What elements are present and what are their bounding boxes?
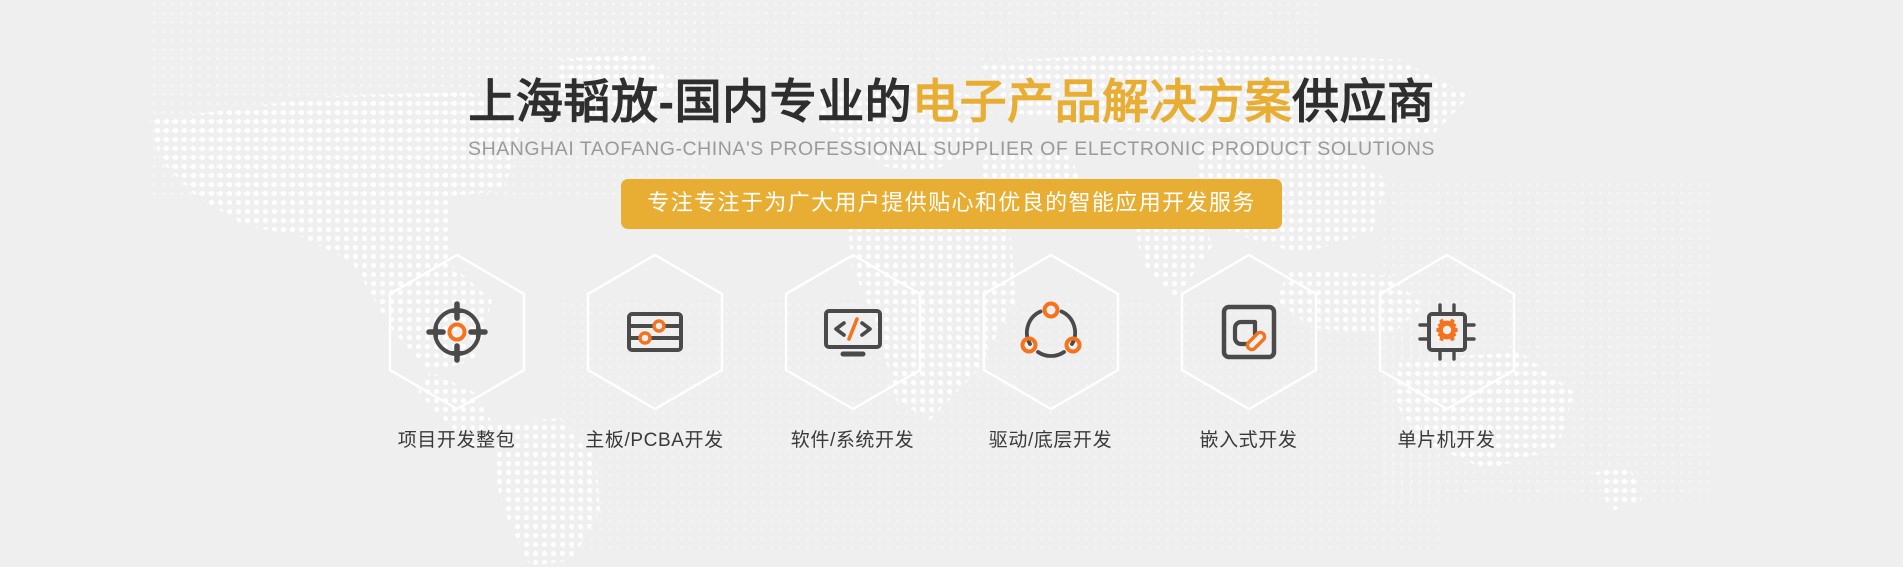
hexagon-frame (585, 253, 725, 411)
service-item-pcba[interactable]: 主板/PCBA开发 (585, 253, 725, 450)
mcu-gear-icon (1415, 300, 1479, 364)
service-label: 嵌入式开发 (1199, 431, 1297, 450)
service-list: 项目开发整包 (387, 253, 1517, 450)
banner-content: 上海韬放-国内专业的电子产品解决方案供应商 SHANGHAI TAOFANG-C… (0, 0, 1903, 567)
service-item-project-package[interactable]: 项目开发整包 (387, 253, 527, 450)
hexagon-frame (1377, 253, 1517, 411)
headline-prefix: 上海韬放-国内专业的 (468, 75, 912, 128)
crosshair-target-icon (425, 300, 489, 364)
service-item-driver[interactable]: 驱动/底层开发 (981, 253, 1121, 450)
page-title: 上海韬放-国内专业的电子产品解决方案供应商 (468, 78, 1434, 125)
service-label: 软件/系统开发 (791, 431, 914, 450)
headline-accent: 电子产品解决方案 (912, 75, 1292, 128)
tagline-badge: 专注专注于为广大用户提供贴心和优良的智能应用开发服务 (621, 179, 1281, 229)
service-item-software[interactable]: 软件/系统开发 (783, 253, 923, 450)
service-label: 项目开发整包 (398, 431, 516, 450)
hexagon-frame (783, 253, 923, 411)
node-network-icon (1019, 300, 1083, 364)
page-subtitle: SHANGHAI TAOFANG-CHINA'S PROFESSIONAL SU… (468, 139, 1435, 160)
embedded-chip-link-icon (1217, 300, 1281, 364)
service-label: 驱动/底层开发 (989, 431, 1112, 450)
circuit-board-icon (623, 300, 687, 364)
service-label: 主板/PCBA开发 (585, 431, 723, 450)
hexagon-frame (387, 253, 527, 411)
service-label: 单片机开发 (1397, 431, 1495, 450)
service-item-mcu[interactable]: 单片机开发 (1377, 253, 1517, 450)
service-item-embedded[interactable]: 嵌入式开发 (1179, 253, 1319, 450)
hero-banner: 上海韬放-国内专业的电子产品解决方案供应商 SHANGHAI TAOFANG-C… (0, 0, 1903, 567)
headline-suffix: 供应商 (1292, 75, 1435, 128)
hexagon-frame (981, 253, 1121, 411)
monitor-code-icon (821, 300, 885, 364)
hexagon-frame (1179, 253, 1319, 411)
